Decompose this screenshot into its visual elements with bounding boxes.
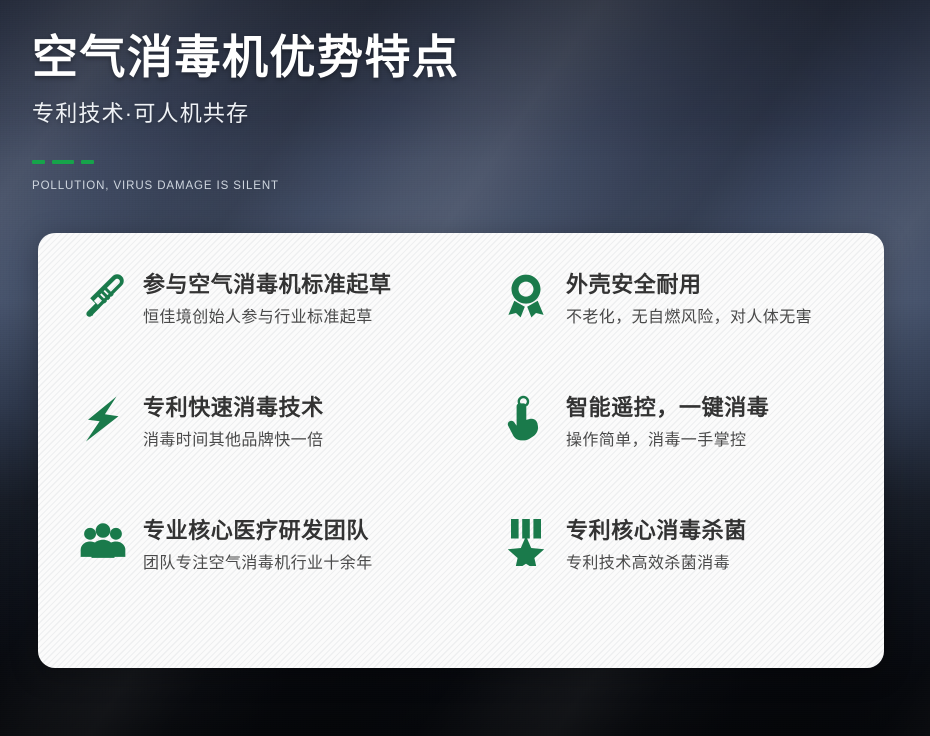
feature-item-fast-disinfection: 专利快速消毒技术 消毒时间其他品牌快一倍	[80, 392, 467, 515]
page-subtitle: 专利技术·可人机共存	[32, 96, 460, 128]
features-grid: 参与空气消毒机标准起草 恒佳境创始人参与行业标准起草 外壳安全耐用 不老化，无自…	[38, 233, 884, 668]
feature-subtext: 操作简单，消毒一手掌控	[566, 431, 769, 451]
page-title: 空气消毒机优势特点	[32, 30, 460, 84]
tap-hand-icon	[503, 394, 549, 444]
accent-dash-1	[32, 160, 45, 164]
feature-subtext: 消毒时间其他品牌快一倍	[143, 431, 324, 451]
feature-text: 参与空气消毒机标准起草 恒佳境创始人参与行业标准起草	[143, 269, 392, 328]
feature-subtext: 团队专注空气消毒机行业十余年	[143, 554, 373, 574]
feature-subtext: 专利技术高效杀菌消毒	[566, 554, 747, 574]
feature-text: 专利核心消毒杀菌 专利技术高效杀菌消毒	[566, 515, 747, 574]
feature-heading: 专业核心医疗研发团队	[143, 517, 373, 545]
feature-item-standards: 参与空气消毒机标准起草 恒佳境创始人参与行业标准起草	[80, 269, 467, 392]
accent-dash-3	[81, 160, 94, 164]
feature-text: 智能遥控，一键消毒 操作简单，消毒一手掌控	[566, 392, 769, 451]
lightning-bolt-icon	[80, 394, 126, 444]
accent-dash-2	[52, 160, 74, 164]
feature-text: 外壳安全耐用 不老化，无自燃风险，对人体无害	[566, 269, 812, 328]
feature-subtext: 不老化，无自燃风险，对人体无害	[566, 308, 812, 328]
feature-heading: 外壳安全耐用	[566, 271, 812, 299]
accent-dashes	[32, 160, 460, 164]
feature-item-patented-sterilization: 专利核心消毒杀菌 专利技术高效杀菌消毒	[467, 515, 854, 638]
feature-text: 专利快速消毒技术 消毒时间其他品牌快一倍	[143, 392, 324, 451]
feature-heading: 专利快速消毒技术	[143, 394, 324, 422]
feature-heading: 参与空气消毒机标准起草	[143, 271, 392, 299]
feature-subtext: 恒佳境创始人参与行业标准起草	[143, 308, 392, 328]
people-group-icon	[80, 517, 126, 567]
feature-item-shell-safety: 外壳安全耐用 不老化，无自燃风险，对人体无害	[467, 269, 854, 392]
english-tagline: POLLUTION, VIRUS DAMAGE IS SILENT	[32, 180, 460, 192]
feature-heading: 专利核心消毒杀菌	[566, 517, 747, 545]
feature-item-remote-control: 智能遥控，一键消毒 操作简单，消毒一手掌控	[467, 392, 854, 515]
page-header: 空气消毒机优势特点 专利技术·可人机共存 POLLUTION, VIRUS DA…	[32, 30, 460, 192]
feature-item-rd-team: 专业核心医疗研发团队 团队专注空气消毒机行业十余年	[80, 515, 467, 638]
award-rosette-icon	[503, 271, 549, 321]
features-card: 参与空气消毒机标准起草 恒佳境创始人参与行业标准起草 外壳安全耐用 不老化，无自…	[38, 233, 884, 668]
star-medal-icon	[503, 517, 549, 567]
feature-heading: 智能遥控，一键消毒	[566, 394, 769, 422]
document-pen-icon	[80, 271, 126, 321]
feature-text: 专业核心医疗研发团队 团队专注空气消毒机行业十余年	[143, 515, 373, 574]
